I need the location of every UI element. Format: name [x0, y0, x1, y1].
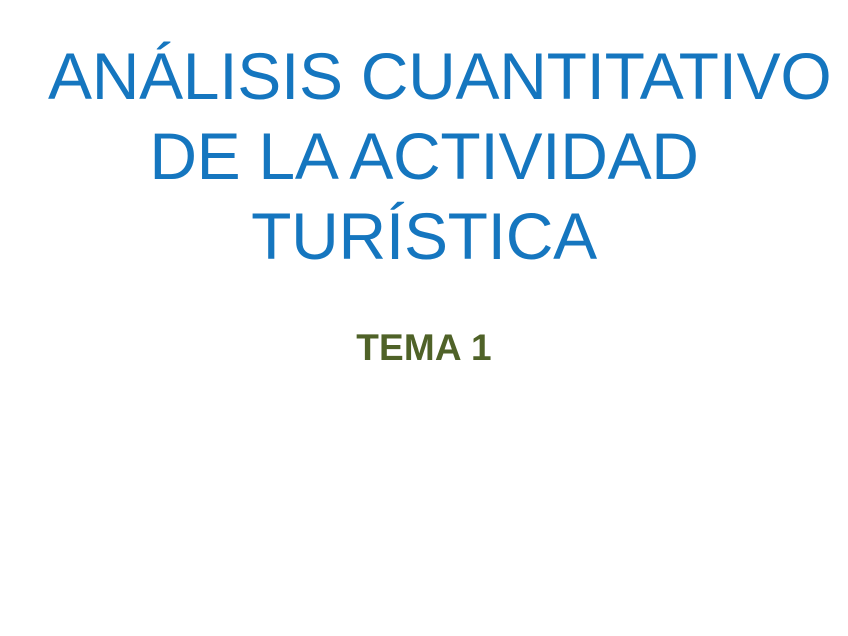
- slide-title-line-1: ANÁLISIS CUANTITATIVO: [48, 36, 800, 116]
- slide-subtitle: TEMA 1: [0, 326, 848, 370]
- slide-body-empty-region: [0, 390, 848, 636]
- presentation-slide: ANÁLISIS CUANTITATIVO DE LA ACTIVIDAD TU…: [0, 0, 848, 636]
- slide-title-line-2: DE LA ACTIVIDAD: [48, 116, 800, 196]
- slide-title: ANÁLISIS CUANTITATIVO DE LA ACTIVIDAD TU…: [0, 36, 848, 276]
- slide-title-line-3: TURÍSTICA: [48, 196, 800, 276]
- slide-subtitle-line-1: TEMA 1: [48, 326, 800, 370]
